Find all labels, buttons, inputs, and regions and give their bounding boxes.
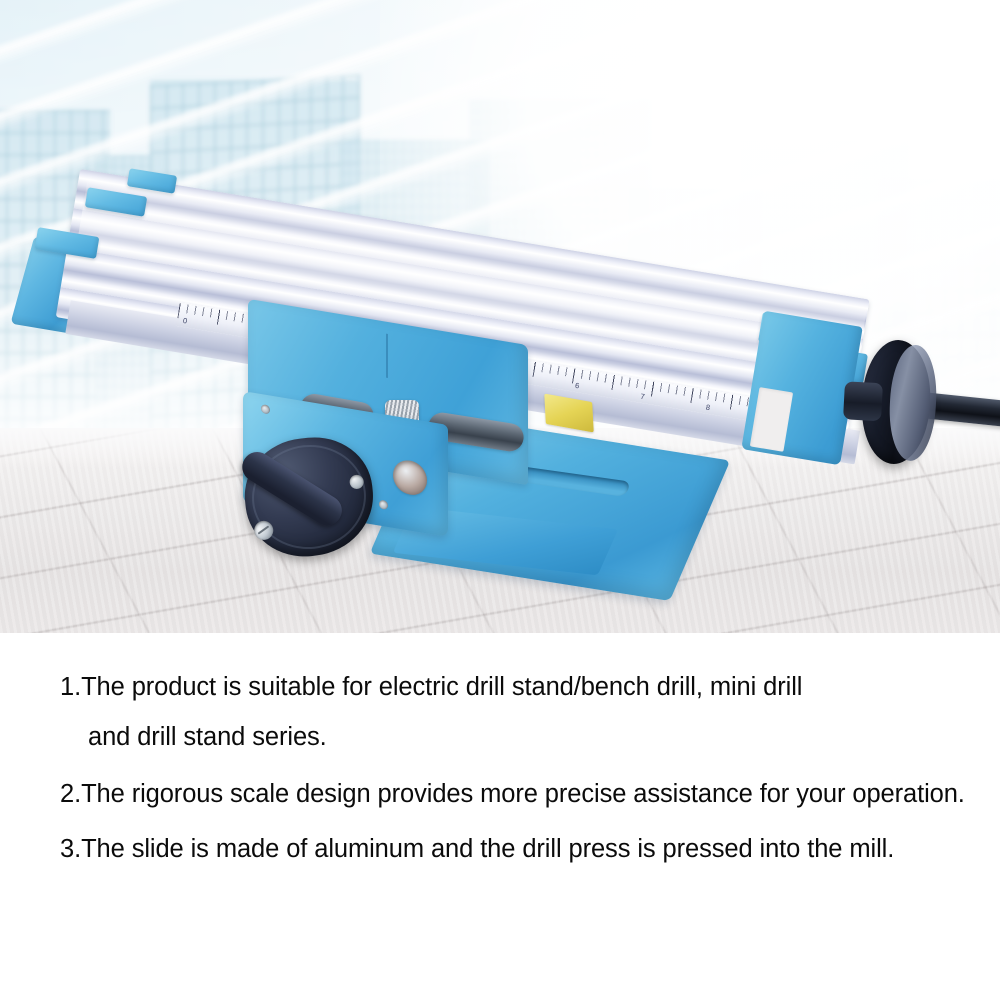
feature-item-3: 3.The slide is made of aluminum and the …	[60, 835, 894, 864]
housing-screw-top-left	[261, 404, 270, 414]
cross-slide-worktable: 0 1 2 3 4 5 6 7 8 9 45	[0, 0, 1000, 633]
housing-screw-bottom	[379, 500, 388, 510]
end-cap-notch	[750, 387, 793, 452]
handwheel-right-face	[887, 344, 939, 462]
feature-item-1-line-2: and drill stand series.	[88, 723, 327, 752]
slide-body-seam	[386, 334, 388, 378]
housing-bearing-boss	[393, 458, 427, 498]
product-photo: 0 1 2 3 4 5 6 7 8 9 45	[0, 0, 1000, 633]
feature-item-2: 2.The rigorous scale design provides mor…	[60, 780, 965, 809]
feature-item-1-line-1: 1.The product is suitable for electric d…	[60, 673, 802, 702]
product-feature-list: 1.The product is suitable for electric d…	[0, 633, 1000, 1000]
handwheel-right-hub	[843, 381, 883, 421]
